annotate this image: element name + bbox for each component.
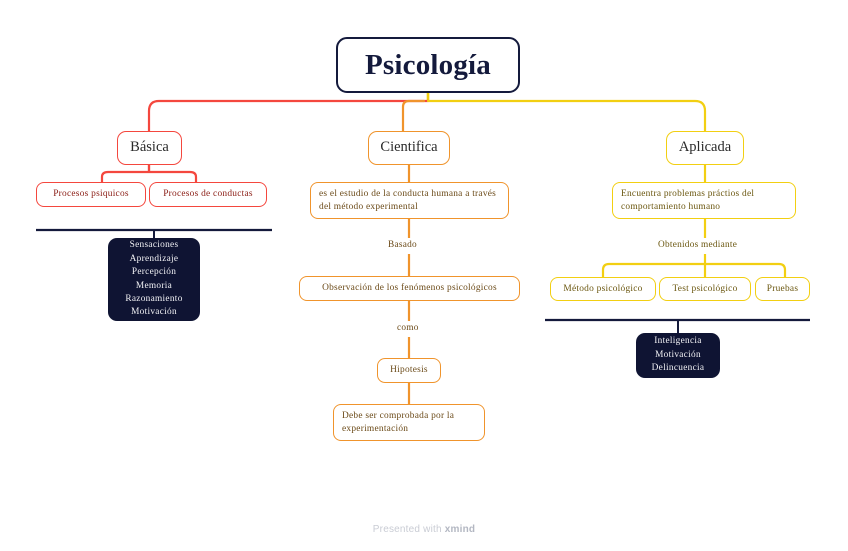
leaf-observacion[interactable]: Observación de los fenómenos psicológico… bbox=[299, 276, 520, 301]
summary-item: Percepción bbox=[132, 266, 176, 279]
leaf-cientifica-definicion[interactable]: es el estudio de la conducta humana a tr… bbox=[310, 182, 509, 219]
branch-node-basica[interactable]: Básica bbox=[117, 131, 182, 165]
summary-item: Razonamiento bbox=[125, 293, 182, 306]
summary-box-basica[interactable]: Sensaciones Aprendizaje Percepción Memor… bbox=[108, 238, 200, 321]
summary-box-aplicada[interactable]: Inteligencia Motivación Delincuencia bbox=[636, 333, 720, 378]
leaf-procesos-psiquicos[interactable]: Procesos psiquicos bbox=[36, 182, 146, 207]
leaf-pruebas[interactable]: Pruebas bbox=[755, 277, 810, 301]
leaf-debe-ser-comprobada[interactable]: Debe ser comprobada por la experimentaci… bbox=[333, 404, 485, 441]
summary-item: Sensaciones bbox=[130, 239, 179, 252]
footer-brand: xmind bbox=[445, 524, 475, 535]
summary-item: Inteligencia bbox=[654, 335, 701, 348]
summary-item: Aprendizaje bbox=[130, 253, 179, 266]
leaf-hipotesis[interactable]: Hipotesis bbox=[377, 358, 441, 383]
footer-prefix: Presented with bbox=[373, 524, 445, 535]
summary-item: Motivación bbox=[131, 306, 177, 319]
connector-label-como: como bbox=[392, 323, 424, 333]
leaf-procesos-de-conductas[interactable]: Procesos de conductas bbox=[149, 182, 267, 207]
mindmap-canvas: Psicología Básica Cientifica Aplicada Pr… bbox=[0, 0, 848, 551]
leaf-metodo-psicologico[interactable]: Método psicológico bbox=[550, 277, 656, 301]
summary-item: Motivación bbox=[655, 349, 701, 362]
connector-label-obtenidos-mediante: Obtenidos mediante bbox=[653, 240, 742, 250]
summary-item: Memoria bbox=[136, 280, 172, 293]
summary-item: Delincuencia bbox=[652, 362, 705, 375]
footer-attribution: Presented with xmind bbox=[0, 524, 848, 535]
branch-node-aplicada[interactable]: Aplicada bbox=[666, 131, 744, 165]
leaf-test-psicologico[interactable]: Test psicológico bbox=[659, 277, 751, 301]
connector-label-basado: Basado bbox=[383, 240, 422, 250]
branch-node-cientifica[interactable]: Cientifica bbox=[368, 131, 450, 165]
root-node[interactable]: Psicología bbox=[336, 37, 520, 93]
leaf-aplicada-definicion[interactable]: Encuentra problemas práctios del comport… bbox=[612, 182, 796, 219]
